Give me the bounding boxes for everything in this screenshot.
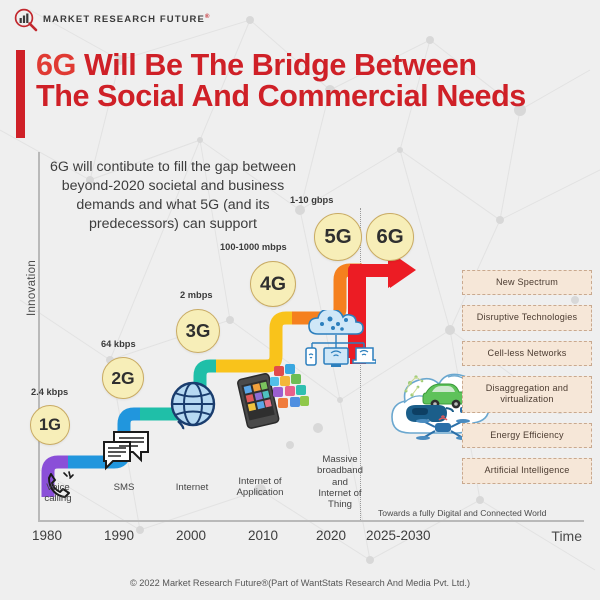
generation-circle-5g: 5G (314, 213, 362, 261)
brand-logo: MARKET RESEARCH FUTURE® (14, 8, 210, 32)
generation-circle-6g: 6G (366, 213, 414, 261)
copyright-footer: © 2022 Market Research Future®(Part of W… (0, 578, 600, 588)
x-tick-2020: 2020 (316, 528, 346, 543)
speed-label-5g: 1-10 gbps (290, 195, 333, 205)
future-annotation: Towards a fully Digital and Connected Wo… (378, 508, 546, 518)
feature-energy-efficiency[interactable]: Energy Efficiency (462, 423, 592, 448)
x-tick-2025-2030: 2025-2030 (366, 528, 431, 543)
feature-new-spectrum[interactable]: New Spectrum (462, 270, 592, 295)
speed-label-2g: 64 kbps (101, 339, 136, 349)
feature-cell-less-networks[interactable]: Cell-less Networks (462, 341, 592, 366)
title-accent-bar (16, 50, 25, 138)
sms-chat-icon (102, 428, 152, 474)
use-case-label-5g: MassivebroadbandandInternet ofThing (308, 454, 372, 511)
speed-label-3g: 2 mbps (180, 290, 213, 300)
feature-disruptive-technologies[interactable]: Disruptive Technologies (462, 305, 592, 330)
title-line-2: The Social And Commercial Needs (36, 81, 526, 112)
use-case-label-1g: Voicecalling (26, 482, 90, 505)
page-title: 6G Will Be The Bridge Between The Social… (16, 50, 526, 138)
registered-mark: ® (205, 14, 211, 20)
brand-name: MARKET RESEARCH FUTURE® (43, 14, 210, 25)
title-line-1: 6G Will Be The Bridge Between (36, 50, 526, 81)
x-tick-1990: 1990 (104, 528, 134, 543)
x-tick-1980: 1980 (32, 528, 62, 543)
feature-disaggregation-and-virtualization[interactable]: Disaggregation and virtualization (462, 376, 592, 413)
x-tick-2000: 2000 (176, 528, 206, 543)
use-case-label-4g: Internet ofApplication (224, 476, 296, 499)
use-case-label-2g: SMS (94, 482, 154, 493)
globe-internet-icon (168, 378, 218, 430)
generation-circle-4g: 4G (250, 261, 296, 307)
title-highlight: 6G (36, 48, 76, 82)
magnifier-bar-chart-logo-icon (14, 8, 38, 32)
infographic-root: MARKET RESEARCH FUTURE® 6G Will Be The B… (0, 0, 600, 600)
generation-circle-1g: 1G (30, 405, 70, 445)
generation-circle-2g: 2G (102, 357, 144, 399)
speed-label-4g: 100-1000 mbps (220, 242, 287, 252)
feature-list: New Spectrum Disruptive Technologies Cel… (462, 270, 592, 494)
feature-artificial-intelligence[interactable]: Artificial Intelligence (462, 458, 592, 483)
cloud-devices-icon (300, 310, 376, 372)
generation-circle-3g: 3G (176, 309, 220, 353)
title-line-1-rest: Will Be The Bridge Between (76, 48, 477, 82)
use-case-label-3g: Internet (160, 482, 224, 493)
x-tick-2010: 2010 (248, 528, 278, 543)
speed-label-1g: 2.4 kbps (31, 387, 68, 397)
